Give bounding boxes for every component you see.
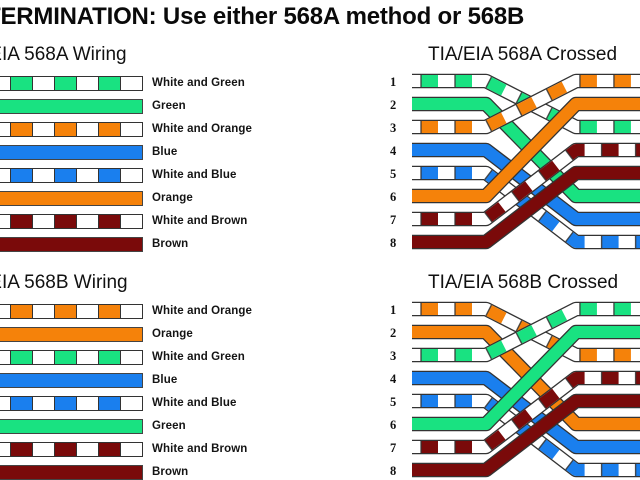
- wire-segment: [0, 466, 142, 479]
- heading-568b-crossed: TIA/EIA 568B Crossed: [428, 272, 618, 294]
- wire-segment: [33, 443, 55, 456]
- crossover-panel-568a: 12345678: [386, 72, 640, 262]
- pin-number: 6: [390, 419, 396, 431]
- wire-segment: [99, 169, 121, 182]
- wire-segment: [0, 215, 11, 228]
- wire-label: Blue: [152, 371, 177, 390]
- wire-segment: [33, 351, 55, 364]
- wire-segment: [99, 351, 121, 364]
- wire-segment: [0, 328, 142, 341]
- wire-segment: [0, 238, 142, 251]
- wire-segment: [55, 443, 77, 456]
- wire-swatch-solid: [0, 99, 143, 114]
- crossover-panel-568b: 12345678: [386, 300, 640, 480]
- wire-swatch-solid: [0, 327, 143, 342]
- pin-number: 8: [390, 237, 396, 249]
- wire-label: White and Orange: [152, 120, 252, 139]
- wire-swatch-solid: [0, 237, 143, 252]
- wire-segment: [99, 305, 121, 318]
- wire-segment: [0, 192, 142, 205]
- wire-segment: [99, 123, 121, 136]
- pin-number: 1: [390, 76, 396, 88]
- pin-number: 1: [390, 304, 396, 316]
- wire-segment: [0, 305, 11, 318]
- wire-segment: [77, 397, 99, 410]
- wire-segment: [33, 77, 55, 90]
- wire-swatch-solid: [0, 465, 143, 480]
- wire-label: White and Green: [152, 74, 245, 93]
- wire-segment: [99, 443, 121, 456]
- wire-segment: [121, 305, 142, 318]
- wire-label: Blue: [152, 143, 177, 162]
- wire-segment: [55, 351, 77, 364]
- pin-number: 5: [390, 396, 396, 408]
- wire-segment: [0, 374, 142, 387]
- wire-swatch-solid: [0, 373, 143, 388]
- wire-swatch-solid: [0, 419, 143, 434]
- heading-568a-wiring: /EIA 568A Wiring: [0, 44, 127, 66]
- pin-number: 7: [390, 442, 396, 454]
- crossover-wires-568b: [408, 300, 640, 480]
- wire-segment: [77, 123, 99, 136]
- pin-number: 3: [390, 122, 396, 134]
- wire-swatch-striped: [0, 168, 143, 183]
- wire-label: Orange: [152, 189, 193, 208]
- wire-segment: [11, 443, 33, 456]
- pin-number: 5: [390, 168, 396, 180]
- wire-segment: [77, 169, 99, 182]
- wire-segment: [55, 215, 77, 228]
- wire-segment: [55, 123, 77, 136]
- wire-label: Brown: [152, 463, 188, 480]
- wire-segment: [121, 397, 142, 410]
- wire-segment: [33, 215, 55, 228]
- wire-swatch-striped: [0, 442, 143, 457]
- pin-number: 8: [390, 465, 396, 477]
- wire-swatch-striped: [0, 122, 143, 137]
- pin-number: 2: [390, 327, 396, 339]
- wire-swatch-striped: [0, 304, 143, 319]
- wire-segment: [55, 169, 77, 182]
- wire-segment: [121, 351, 142, 364]
- pin-number: 3: [390, 350, 396, 362]
- heading-568a-crossed: TIA/EIA 568A Crossed: [428, 44, 617, 66]
- wire-segment: [77, 443, 99, 456]
- wire-segment: [11, 215, 33, 228]
- wire-segment: [11, 169, 33, 182]
- wire-segment: [99, 215, 121, 228]
- wire-segment: [55, 305, 77, 318]
- wire-segment: [55, 77, 77, 90]
- wire-label: Orange: [152, 325, 193, 344]
- wire-segment: [0, 420, 142, 433]
- wire-label: White and Green: [152, 348, 245, 367]
- wire-segment: [11, 305, 33, 318]
- wire-segment: [0, 169, 11, 182]
- wire-segment: [0, 146, 142, 159]
- wire-swatch-solid: [0, 145, 143, 160]
- wire-segment: [0, 397, 11, 410]
- wire-label: White and Orange: [152, 302, 252, 321]
- wire-segment: [11, 123, 33, 136]
- wire-segment: [11, 351, 33, 364]
- wire-segment: [99, 397, 121, 410]
- wire-label: White and Blue: [152, 166, 236, 185]
- wire-segment: [77, 351, 99, 364]
- wire-segment: [33, 305, 55, 318]
- wire-segment: [77, 215, 99, 228]
- pin-number: 6: [390, 191, 396, 203]
- wire-label: Green: [152, 97, 186, 116]
- wire-segment: [33, 169, 55, 182]
- wire-segment: [11, 77, 33, 90]
- pin-number: 4: [390, 145, 396, 157]
- wire-swatch-striped: [0, 350, 143, 365]
- page-title: TERMINATION: Use either 568A method or 5…: [0, 1, 640, 33]
- wire-segment: [55, 397, 77, 410]
- diagram-canvas: TERMINATION: Use either 568A method or 5…: [0, 0, 640, 480]
- wire-swatch-striped: [0, 396, 143, 411]
- wire-label: Brown: [152, 235, 188, 254]
- pin-number: 2: [390, 99, 396, 111]
- wire-swatch-solid: [0, 191, 143, 206]
- wire-segment: [0, 77, 11, 90]
- wire-segment: [121, 215, 142, 228]
- wire-segment: [121, 169, 142, 182]
- wire-segment: [0, 100, 142, 113]
- wire-segment: [0, 351, 11, 364]
- wire-swatch-striped: [0, 214, 143, 229]
- wire-swatch-striped: [0, 76, 143, 91]
- wire-segment: [0, 123, 11, 136]
- wire-segment: [121, 443, 142, 456]
- wire-segment: [33, 397, 55, 410]
- wire-label: White and Blue: [152, 394, 236, 413]
- wire-segment: [11, 397, 33, 410]
- wire-segment: [33, 123, 55, 136]
- wire-segment: [0, 443, 11, 456]
- wire-segment: [99, 77, 121, 90]
- wire-label: White and Brown: [152, 212, 247, 231]
- wire-segment: [77, 77, 99, 90]
- wire-label: White and Brown: [152, 440, 247, 459]
- wire-segment: [121, 123, 142, 136]
- wire-segment: [121, 77, 142, 90]
- pin-number: 7: [390, 214, 396, 226]
- heading-568b-wiring: /EIA 568B Wiring: [0, 272, 128, 294]
- wire-label: Green: [152, 417, 186, 436]
- wire-segment: [77, 305, 99, 318]
- crossover-wires-568a: [408, 72, 640, 262]
- pin-number: 4: [390, 373, 396, 385]
